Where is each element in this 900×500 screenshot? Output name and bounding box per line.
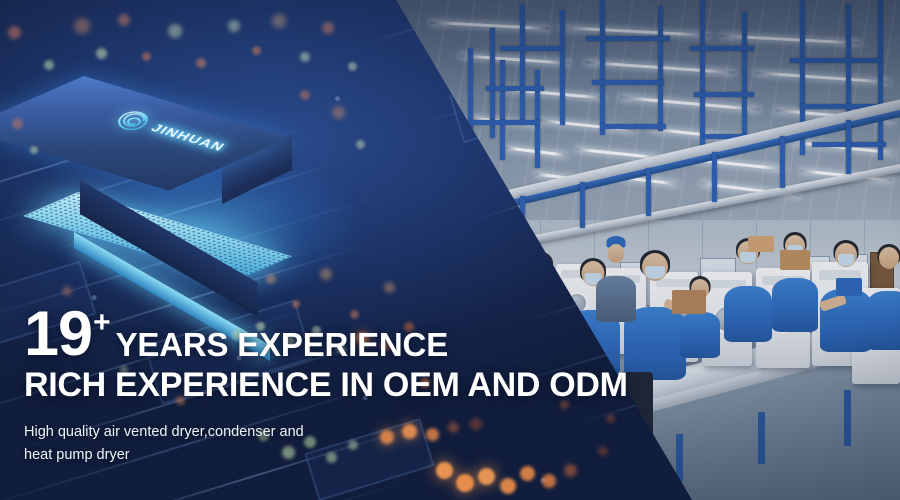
description-line-2: heat pump dryer: [24, 444, 644, 466]
years-line: 19 + YEARS EXPERIENCE: [24, 306, 644, 364]
description: High quality air vented dryer,condenser …: [24, 421, 644, 466]
table-leg: [758, 412, 765, 464]
years-number: 19: [24, 306, 92, 364]
promo-banner: JINHUAN: [0, 0, 900, 500]
plus-sign: +: [93, 308, 111, 338]
table-leg: [844, 390, 851, 446]
headline-block: 19 + YEARS EXPERIENCE RICH EXPERIENCE IN…: [24, 306, 644, 466]
years-experience-label: YEARS EXPERIENCE: [116, 328, 448, 361]
subheadline: RICH EXPERIENCE IN OEM AND ODM: [24, 366, 644, 404]
description-line-1: High quality air vented dryer,condenser …: [24, 421, 644, 443]
cpu-chip: [72, 76, 312, 251]
